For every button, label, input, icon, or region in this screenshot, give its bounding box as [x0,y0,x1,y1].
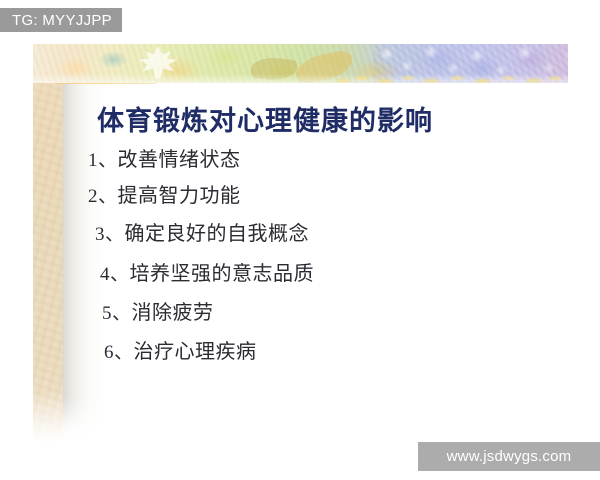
band-bottom-fade [33,74,568,83]
site-watermark: www.jsdwygs.com [418,442,600,471]
bullet-item-5: 5、 消除疲劳 [102,296,508,335]
bullet-text-6: 治疗心理疾病 [134,335,257,364]
bullet-item-4: 4、 培养坚强的意志品质 [100,257,508,296]
screenshot-stage: 体育锻炼对心理健康的影响 1、 改善情绪状态 2、 提高智力功能 3、 确定良好… [0,0,600,480]
bullet-item-6: 6、 治疗心理疾病 [104,335,508,371]
bullet-text-5: 消除疲劳 [132,296,214,325]
tg-channel-badge: TG: MYYJJPP [0,8,122,32]
bullet-number-3: 3、 [95,219,125,246]
slide-left-texture-band [33,44,63,443]
slide-bullet-list: 1、 改善情绪状态 2、 提高智力功能 3、 确定良好的自我概念 4、 培养坚强… [88,143,508,371]
bullet-number-6: 6、 [104,337,134,364]
bullet-text-3: 确定良好的自我概念 [125,217,310,246]
bullet-number-4: 4、 [100,259,130,286]
bullet-item-1: 1、 改善情绪状态 [88,143,508,179]
bullet-number-1: 1、 [88,145,118,172]
bullet-number-5: 5、 [102,298,132,325]
bullet-text-2: 提高智力功能 [118,179,241,208]
slide-title: 体育锻炼对心理健康的影响 [97,99,433,138]
bullet-number-2: 2、 [88,181,118,208]
bullet-item-2: 2、 提高智力功能 [88,179,508,217]
presentation-slide: 体育锻炼对心理健康的影响 1、 改善情绪状态 2、 提高智力功能 3、 确定良好… [0,0,600,480]
slide-decorative-header-band [33,44,568,83]
bullet-item-3: 3、 确定良好的自我概念 [95,217,508,257]
bullet-text-1: 改善情绪状态 [118,143,241,172]
bullet-text-4: 培养坚强的意志品质 [130,257,315,286]
